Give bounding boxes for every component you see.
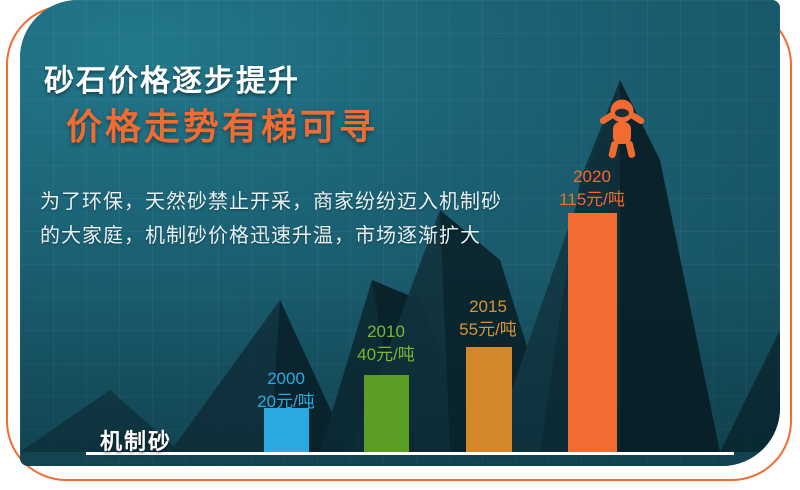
body-paragraph: 为了环保，天然砂禁止开采，商家纷纷迈入机制砂的大家庭，机制砂价格迅速升温，市场逐… (40, 185, 520, 253)
bar-price-2015: 55元/吨 (438, 318, 538, 341)
axis-baseline (86, 452, 734, 455)
page-title: 砂石价格逐步提升 (44, 56, 300, 100)
bar-price-2000: 20元/吨 (236, 390, 336, 413)
bar-2000 (264, 408, 309, 452)
bar-label-2020: 2020 115元/吨 (542, 165, 642, 211)
bar-2015 (466, 347, 512, 452)
bar-year-2000: 2000 (236, 367, 336, 390)
bar-2010 (364, 375, 409, 452)
bar-price-2010: 40元/吨 (336, 343, 436, 366)
bar-2020 (568, 213, 617, 452)
page-subtitle: 价格走势有梯可寻 (66, 98, 378, 150)
bar-label-2000: 2000 20元/吨 (236, 367, 336, 413)
infographic-canvas: 砂石价格逐步提升 价格走势有梯可寻 为了环保，天然砂禁止开采，商家纷纷迈入机制砂… (0, 0, 800, 490)
axis-label-manufactured-sand: 机制砂 (100, 424, 172, 456)
bar-price-2020: 115元/吨 (542, 188, 642, 211)
bar-year-2010: 2010 (336, 320, 436, 343)
bar-year-2020: 2020 (542, 165, 642, 188)
bar-label-2015: 2015 55元/吨 (438, 295, 538, 341)
person-cheering-icon (597, 97, 647, 159)
bar-label-2010: 2010 40元/吨 (336, 320, 436, 366)
bar-year-2015: 2015 (438, 295, 538, 318)
